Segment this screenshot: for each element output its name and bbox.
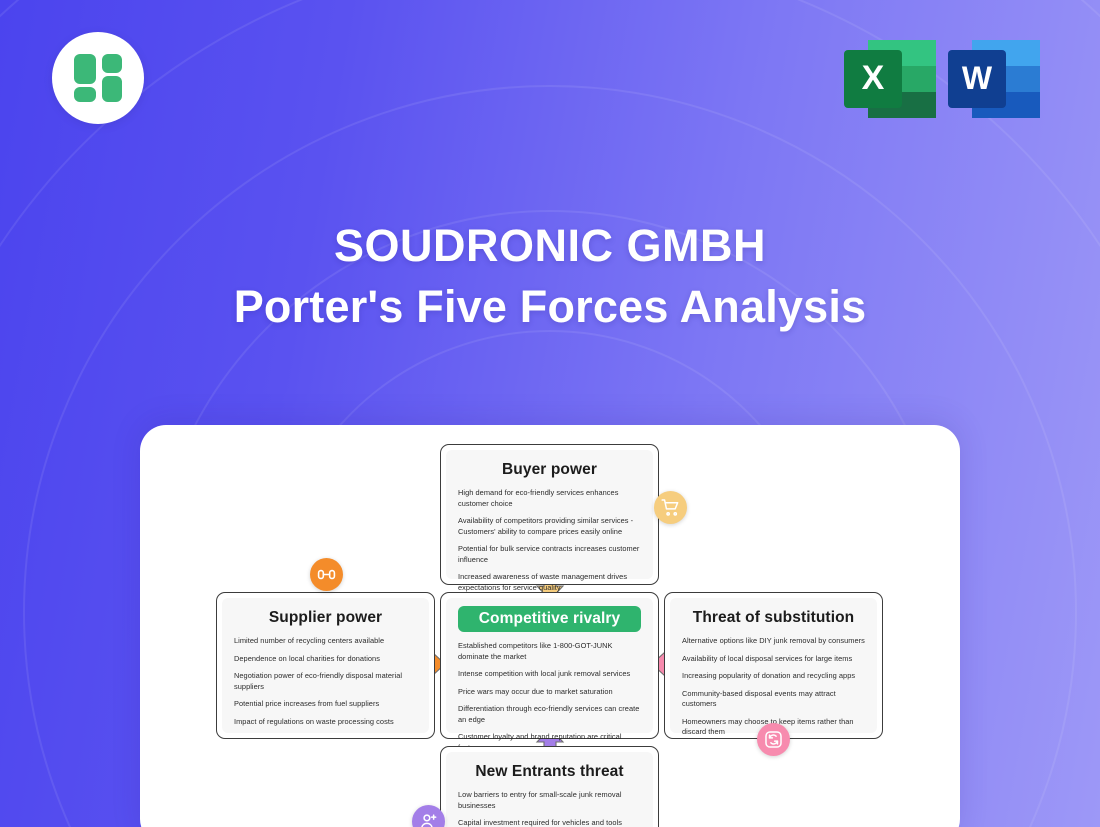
dashboard-grid-icon bbox=[74, 54, 122, 102]
force-item: Dependence on local charities for donati… bbox=[234, 654, 417, 665]
force-item: Availability of competitors providing si… bbox=[458, 516, 641, 537]
force-title-new-entrants-threat: New Entrants threat bbox=[458, 763, 641, 781]
force-item: Capital investment required for vehicles… bbox=[458, 818, 641, 827]
svg-text:X: X bbox=[862, 59, 885, 97]
svg-text:W: W bbox=[962, 60, 993, 96]
porters-five-forces-diagram: Buyer power High demand for eco-friendly… bbox=[140, 425, 960, 827]
supplier-power-badge bbox=[310, 558, 343, 591]
force-box-competitive-rivalry[interactable]: Competitive rivalry Established competit… bbox=[440, 592, 659, 739]
force-item: Negotiation power of eco-friendly dispos… bbox=[234, 671, 417, 692]
brand-logo bbox=[52, 32, 144, 124]
force-box-buyer-power[interactable]: Buyer power High demand for eco-friendly… bbox=[440, 444, 659, 585]
force-item: Low barriers to entry for small-scale ju… bbox=[458, 790, 641, 811]
force-item: Limited number of recycling centers avai… bbox=[234, 636, 417, 647]
force-item: Potential for bulk service contracts inc… bbox=[458, 544, 641, 565]
force-item: Established competitors like 1-800-GOT-J… bbox=[458, 641, 641, 662]
page-title: Porter's Five Forces Analysis bbox=[0, 283, 1100, 330]
buyer-power-badge bbox=[654, 491, 687, 524]
company-name: SOUDRONIC GMBH bbox=[0, 222, 1100, 269]
force-box-new-entrants-threat[interactable]: New Entrants threat Low barriers to entr… bbox=[440, 746, 659, 827]
force-title-buyer-power: Buyer power bbox=[458, 461, 641, 479]
force-item: Potential price increases from fuel supp… bbox=[234, 699, 417, 710]
force-item: High demand for eco-friendly services en… bbox=[458, 488, 641, 509]
slide-canvas: X W SOUDRONIC GMBH Porter's Five Forces … bbox=[0, 0, 1100, 827]
force-item: Increased awareness of waste management … bbox=[458, 572, 641, 593]
force-box-threat-of-substitution[interactable]: Threat of substitution Alternative optio… bbox=[664, 592, 883, 739]
threat-of-substitution-badge bbox=[757, 723, 790, 756]
force-item: Alternative options like DIY junk remova… bbox=[682, 636, 865, 647]
diagram-card: Buyer power High demand for eco-friendly… bbox=[140, 425, 960, 827]
add-user-icon bbox=[419, 812, 438, 827]
force-item: Community-based disposal events may attr… bbox=[682, 689, 865, 710]
force-item: Price wars may occur due to market satur… bbox=[458, 687, 641, 698]
force-item: Impact of regulations on waste processin… bbox=[234, 717, 417, 728]
link-chain-icon bbox=[317, 565, 336, 584]
sync-refresh-icon bbox=[764, 730, 783, 749]
force-item: Intense competition with local junk remo… bbox=[458, 669, 641, 680]
force-item: Increasing popularity of donation and re… bbox=[682, 671, 865, 682]
force-item: Differentiation through eco-friendly ser… bbox=[458, 704, 641, 725]
force-title-threat-of-substitution: Threat of substitution bbox=[682, 609, 865, 627]
force-title-competitive-rivalry: Competitive rivalry bbox=[458, 606, 641, 632]
force-box-supplier-power[interactable]: Supplier power Limited number of recycli… bbox=[216, 592, 435, 739]
word-export-icon[interactable]: W bbox=[944, 32, 1044, 126]
force-title-supplier-power: Supplier power bbox=[234, 609, 417, 627]
force-item: Availability of local disposal services … bbox=[682, 654, 865, 665]
excel-export-icon[interactable]: X bbox=[840, 32, 940, 126]
title-block: SOUDRONIC GMBH Porter's Five Forces Anal… bbox=[0, 222, 1100, 331]
shopping-cart-icon bbox=[661, 498, 680, 517]
